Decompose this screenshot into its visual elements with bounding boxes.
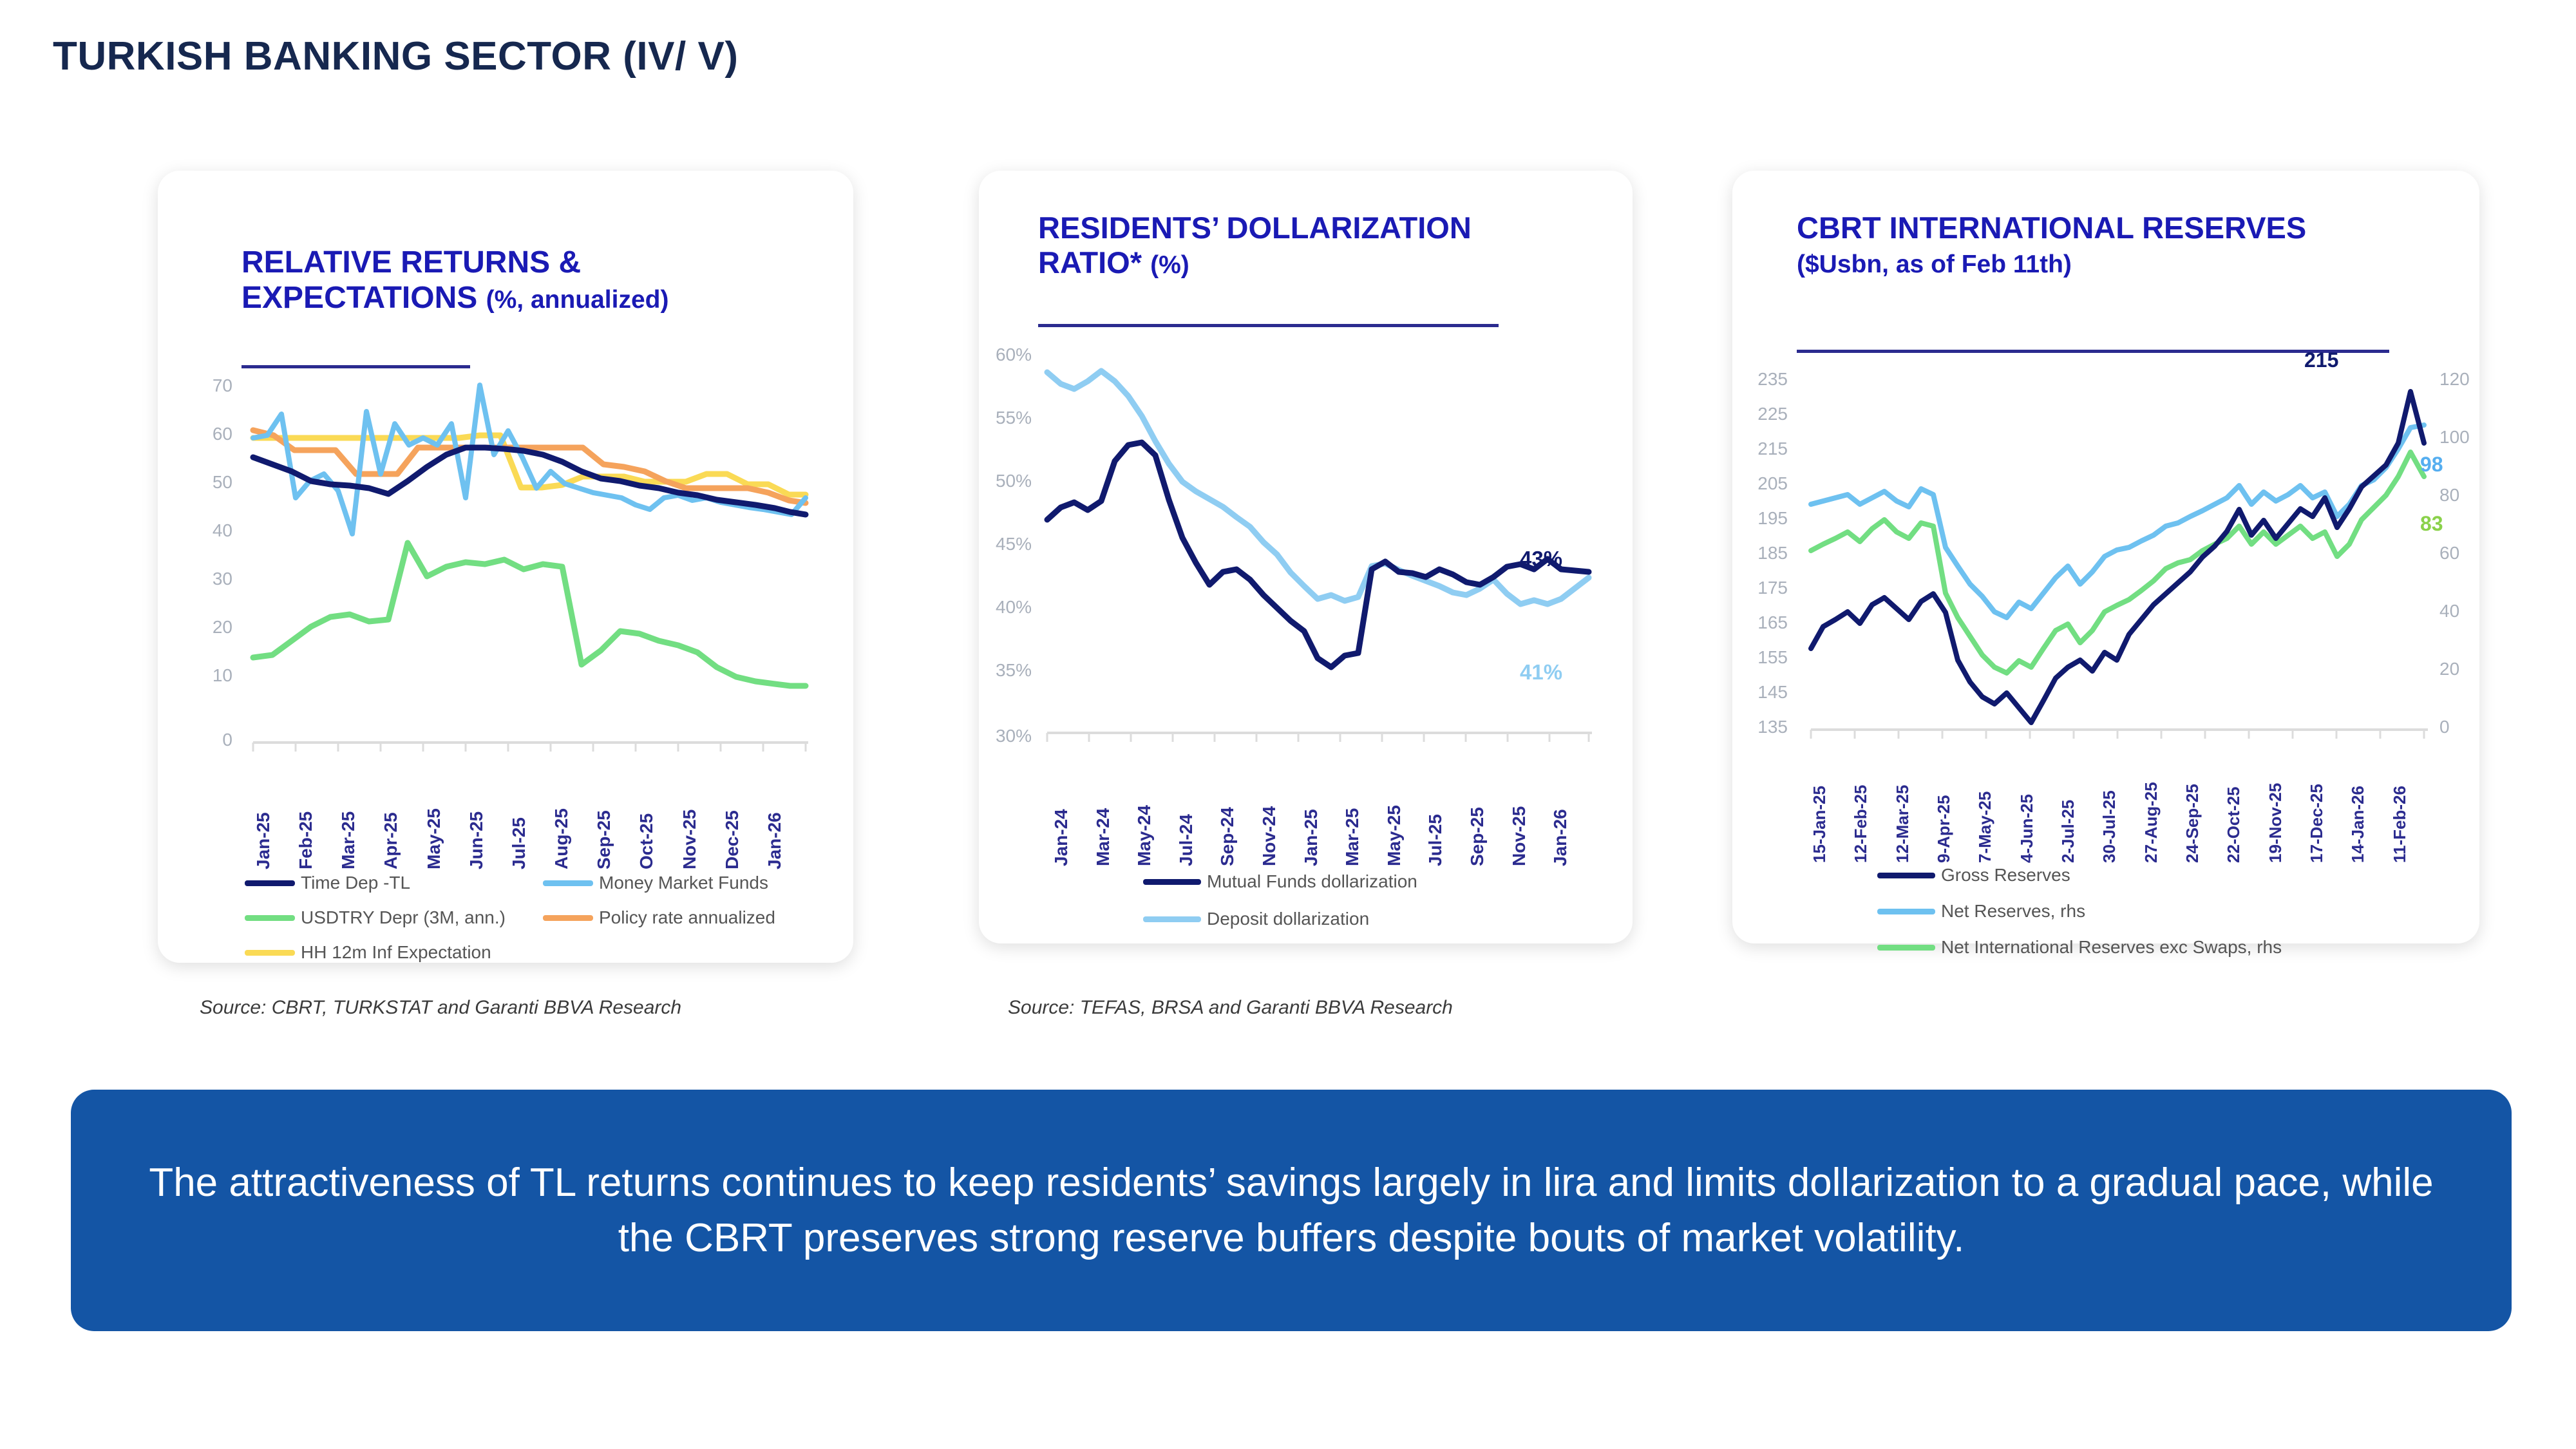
legend-label: Net Reserves, rhs — [1941, 901, 2085, 922]
chart3-xtick: 30-Jul-25 — [2099, 737, 2141, 863]
chart3-xtick: 9-Apr-25 — [1934, 737, 1975, 863]
chart3-title-line1: CBRT INTERNATIONAL RESERVES — [1797, 211, 2306, 245]
chart2-legend: Mutual Funds dollarization Deposit dolla… — [1143, 871, 1633, 929]
chart3-ytick-r-100: 100 — [2439, 427, 2504, 448]
chart3-ytick-r-60: 60 — [2439, 543, 2504, 563]
chart3-ytick-l-235: 235 — [1723, 369, 1788, 390]
chart3-ytick-r-120: 120 — [2439, 369, 2504, 390]
chart1-plot — [241, 383, 808, 750]
chart3-xtick: 4-Jun-25 — [2017, 737, 2058, 863]
legend-item[interactable]: Time Dep -TL — [245, 873, 539, 893]
chart2-xtick: Jan-24 — [1051, 744, 1093, 866]
legend-label: Gross Reserves — [1941, 865, 2070, 885]
legend-swatch-net-intl-reserves-exc-swaps — [1877, 945, 1935, 951]
chart2-svg — [1038, 354, 1592, 737]
chart2-annotation-43pct: 43% — [1520, 547, 1562, 571]
chart3-svg — [1797, 364, 2428, 734]
chart1-xtick: Jul-25 — [509, 753, 551, 869]
chart3-xtick: 14-Jan-26 — [2348, 737, 2389, 863]
chart1-xtick: Oct-25 — [636, 753, 679, 869]
chart1-title-sub: (%, annualized) — [486, 286, 669, 314]
chart3-ytick-r-40: 40 — [2439, 601, 2504, 621]
legend-swatch-mutual-funds-dollarization — [1143, 879, 1201, 885]
chart3-xtick: 22-Oct-25 — [2224, 737, 2265, 863]
chart2-title-line2: RATIO* — [1038, 245, 1142, 279]
chart3-annotation-83: 83 — [2420, 512, 2443, 536]
chart2-title-rule — [1038, 324, 1499, 327]
chart3-ytick-l-175: 175 — [1723, 578, 1788, 598]
legend-label: HH 12m Inf Expectation — [301, 942, 491, 963]
chart3-ytick-l-145: 145 — [1723, 682, 1788, 703]
legend-swatch-policy-rate — [543, 915, 593, 921]
chart1-xtick: Jan-25 — [253, 753, 296, 869]
source-note-chart1: Source: CBRT, TURKSTAT and Garanti BBVA … — [200, 997, 681, 1019]
chart2-ytick-55: 55% — [974, 408, 1032, 428]
chart3-xtick: 27-Aug-25 — [2141, 737, 2183, 863]
legend-item[interactable]: Mutual Funds dollarization — [1143, 871, 1633, 892]
legend-label: Policy rate annualized — [599, 907, 775, 928]
chart1-xaxis-labels: Jan-25 Feb-25 Mar-25 Apr-25 May-25 Jun-2… — [253, 753, 807, 869]
chart1-xtick: Dec-25 — [722, 753, 764, 869]
chart1-xtick: Jan-26 — [764, 753, 807, 869]
chart1-ytick-70: 70 — [175, 375, 232, 396]
chart1-legend: Time Dep -TL Money Market Funds USDTRY D… — [245, 873, 837, 963]
legend-item[interactable]: Policy rate annualized — [543, 907, 837, 928]
chart2-ytick-60: 60% — [974, 345, 1032, 365]
chart1-xtick: Sep-25 — [594, 753, 636, 869]
chart3-xtick: 24-Sep-25 — [2183, 737, 2224, 863]
legend-item[interactable]: Deposit dollarization — [1143, 909, 1633, 929]
chart2-title-line1: RESIDENTS’ DOLLARIZATION — [1038, 211, 1472, 245]
chart1-ytick-20: 20 — [175, 617, 232, 638]
chart3-annotation-215: 215 — [2304, 348, 2338, 372]
legend-item[interactable]: Net Reserves, rhs — [1877, 901, 2457, 922]
source-notes: Source: CBRT, TURKSTAT and Garanti BBVA … — [0, 997, 2576, 1036]
chart1-xtick: Jun-25 — [466, 753, 509, 869]
chart2-annotation-41pct: 41% — [1520, 660, 1562, 685]
chart2-xtick: Nov-24 — [1259, 744, 1301, 866]
chart1-xtick: Apr-25 — [381, 753, 423, 869]
chart1-title-rule — [241, 365, 470, 368]
legend-label: Mutual Funds dollarization — [1207, 871, 1417, 892]
chart2-xtick: Nov-25 — [1509, 744, 1551, 866]
chart2-ytick-45: 45% — [974, 534, 1032, 554]
legend-item[interactable]: Gross Reserves — [1877, 865, 2457, 885]
chart-card-relative-returns: RELATIVE RETURNS & EXPECTATIONS (%, annu… — [158, 171, 853, 963]
legend-swatch-time-dep-tl — [245, 880, 295, 886]
summary-banner-text: The attractiveness of TL returns continu… — [148, 1155, 2434, 1265]
chart3-xtick: 7-May-25 — [1975, 737, 2016, 863]
legend-swatch-deposit-dollarization — [1143, 916, 1201, 922]
chart3-ytick-l-185: 185 — [1723, 543, 1788, 563]
chart3-title-rule — [1797, 350, 2389, 353]
chart1-xtick: Aug-25 — [551, 753, 594, 869]
chart1-title: RELATIVE RETURNS & EXPECTATIONS (%, annu… — [241, 245, 853, 316]
chart2-title-sub: (%) — [1150, 251, 1189, 279]
chart3-ytick-l-225: 225 — [1723, 404, 1788, 424]
legend-item[interactable]: Money Market Funds — [543, 873, 837, 893]
legend-label: Time Dep -TL — [301, 873, 410, 893]
chart2-xtick: Mar-24 — [1093, 744, 1135, 866]
chart3-ytick-l-165: 165 — [1723, 612, 1788, 633]
chart1-ytick-10: 10 — [175, 665, 232, 686]
chart1-xtick: May-25 — [424, 753, 466, 869]
chart3-xtick: 17-Dec-25 — [2307, 737, 2348, 863]
chart1-svg — [241, 383, 808, 750]
chart2-plot — [1038, 354, 1592, 737]
chart2-xtick: Sep-25 — [1467, 744, 1509, 866]
chart1-ytick-60: 60 — [175, 424, 232, 444]
chart2-ytick-50: 50% — [974, 471, 1032, 491]
legend-swatch-gross-reserves — [1877, 873, 1935, 878]
charts-row: RELATIVE RETURNS & EXPECTATIONS (%, annu… — [0, 171, 2576, 989]
chart2-xtick: May-24 — [1134, 744, 1176, 866]
chart3-xtick: 2-Jul-25 — [2058, 737, 2099, 863]
chart1-xtick: Mar-25 — [338, 753, 381, 869]
chart3-xtick: 12-Feb-25 — [1851, 737, 1892, 863]
chart3-xtick: 11-Feb-26 — [2390, 737, 2431, 863]
chart2-ytick-35: 35% — [974, 660, 1032, 681]
chart1-ytick-30: 30 — [175, 569, 232, 589]
legend-label: Deposit dollarization — [1207, 909, 1369, 929]
chart3-annotation-98: 98 — [2420, 453, 2443, 477]
chart3-xaxis-labels: 15-Jan-25 12-Feb-25 12-Mar-25 9-Apr-25 7… — [1810, 737, 2431, 863]
chart2-xtick: Jul-24 — [1176, 744, 1218, 866]
chart3-ytick-r-20: 20 — [2439, 659, 2504, 679]
chart1-title-line2: EXPECTATIONS — [241, 281, 477, 315]
chart2-xtick: Jan-26 — [1550, 744, 1592, 866]
chart3-title-sub: ($Usbn, as of Feb 11th) — [1797, 251, 2479, 279]
chart-card-cbrt-reserves: CBRT INTERNATIONAL RESERVES ($Usbn, as o… — [1732, 171, 2479, 943]
legend-item[interactable]: HH 12m Inf Expectation — [245, 942, 539, 963]
chart3-plot — [1797, 364, 2428, 734]
chart3-ytick-r-80: 80 — [2439, 485, 2504, 506]
legend-label: Net International Reserves exc Swaps, rh… — [1941, 937, 2282, 958]
legend-swatch-hh-inf-expectation — [245, 950, 295, 956]
chart1-ytick-40: 40 — [175, 520, 232, 541]
chart2-ytick-30: 30% — [974, 726, 1032, 746]
chart3-ytick-l-205: 205 — [1723, 473, 1788, 494]
chart1-title-line1: RELATIVE RETURNS & — [241, 245, 581, 279]
chart1-ytick-50: 50 — [175, 472, 232, 493]
chart-card-dollarization-ratio: RESIDENTS’ DOLLARIZATION RATIO* (%) 60% … — [979, 171, 1633, 943]
chart2-xtick: Jul-25 — [1425, 744, 1467, 866]
chart3-xtick: 19-Nov-25 — [2266, 737, 2307, 863]
summary-banner: The attractiveness of TL returns continu… — [71, 1090, 2512, 1331]
chart2-xtick: Jan-25 — [1301, 744, 1343, 866]
legend-label: Money Market Funds — [599, 873, 768, 893]
chart2-xtick: Sep-24 — [1217, 744, 1259, 866]
legend-swatch-money-market-funds — [543, 880, 593, 886]
chart1-ytick-0: 0 — [175, 730, 232, 750]
page-title: TURKISH BANKING SECTOR (IV/ V) — [53, 33, 738, 79]
chart2-xtick: Mar-25 — [1342, 744, 1384, 866]
legend-item[interactable]: Net International Reserves exc Swaps, rh… — [1877, 937, 2457, 958]
chart3-xtick: 12-Mar-25 — [1893, 737, 1934, 863]
chart3-ytick-r-0: 0 — [2439, 717, 2504, 737]
chart3-ytick-l-215: 215 — [1723, 439, 1788, 459]
chart2-title: RESIDENTS’ DOLLARIZATION RATIO* (%) — [1038, 211, 1633, 280]
chart3-ytick-l-155: 155 — [1723, 647, 1788, 668]
chart3-xtick: 15-Jan-25 — [1810, 737, 1851, 863]
legend-label: USDTRY Depr (3M, ann.) — [301, 907, 506, 928]
legend-item[interactable]: USDTRY Depr (3M, ann.) — [245, 907, 539, 928]
chart3-ytick-l-135: 135 — [1723, 717, 1788, 737]
chart3-legend: Gross Reserves Net Reserves, rhs Net Int… — [1877, 865, 2457, 958]
chart2-xtick: May-25 — [1384, 744, 1426, 866]
chart3-ytick-l-195: 195 — [1723, 508, 1788, 529]
chart1-xtick: Nov-25 — [679, 753, 722, 869]
source-note-chart2: Source: TEFAS, BRSA and Garanti BBVA Res… — [1008, 997, 1453, 1019]
legend-swatch-usdtry-depr — [245, 915, 295, 921]
legend-swatch-net-reserves — [1877, 909, 1935, 914]
chart2-ytick-40: 40% — [974, 597, 1032, 618]
chart3-title: CBRT INTERNATIONAL RESERVES ($Usbn, as o… — [1797, 211, 2479, 279]
chart1-xtick: Feb-25 — [296, 753, 338, 869]
chart2-xaxis-labels: Jan-24 Mar-24 May-24 Jul-24 Sep-24 Nov-2… — [1051, 744, 1592, 866]
